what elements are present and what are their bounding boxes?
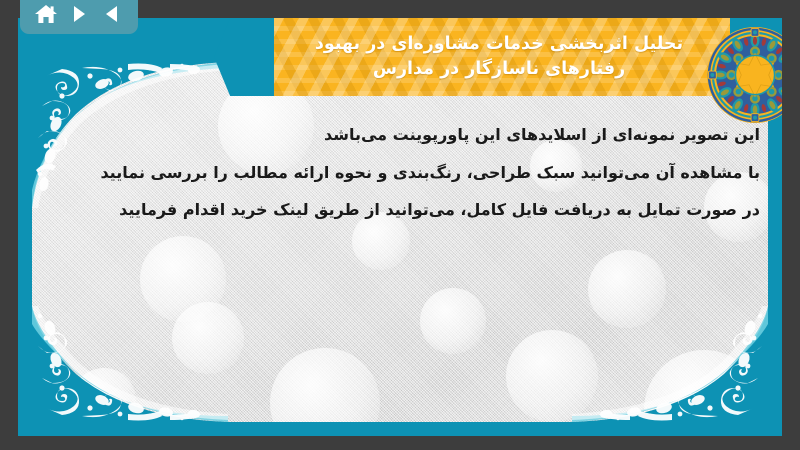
navigation-bar: [20, 0, 138, 34]
slide-title-banner: تحلیل اثربخشی خدمات مشاوره‌ای در بهبود ر…: [274, 18, 730, 96]
triangle-left-icon: [101, 3, 123, 25]
bokeh-circle: [644, 350, 764, 422]
slide-title-line-2: رفتارهای ناسازگار در مدارس: [373, 57, 625, 82]
body-line-1: این تصویر نمونه‌ای از اسلایدهای این پاور…: [40, 116, 760, 154]
bokeh-circle: [420, 288, 486, 354]
slide-body-text: این تصویر نمونه‌ای از اسلایدهای این پاور…: [40, 116, 760, 229]
bokeh-circle: [172, 302, 244, 374]
slide-canvas: تحلیل اثربخشی خدمات مشاوره‌ای در بهبود ر…: [18, 18, 782, 436]
previous-slide-button[interactable]: [98, 1, 126, 27]
slide-title-line-1: تحلیل اثربخشی خدمات مشاوره‌ای در بهبود: [315, 32, 683, 57]
next-slide-button[interactable]: [65, 1, 93, 27]
body-line-2: با مشاهده آن می‌توانید سبک طراحی، رنگ‌بن…: [40, 154, 760, 192]
home-button[interactable]: [32, 1, 60, 27]
slide-viewer: تحلیل اثربخشی خدمات مشاوره‌ای در بهبود ر…: [0, 0, 800, 450]
circular-mandala-ornament: [706, 26, 782, 124]
bokeh-circle: [270, 348, 380, 422]
bokeh-circle: [72, 368, 136, 422]
bokeh-circle: [140, 236, 226, 322]
bokeh-circle: [506, 330, 598, 422]
triangle-right-icon: [68, 3, 90, 25]
bokeh-circle: [588, 250, 666, 328]
home-icon: [34, 3, 58, 25]
body-line-3: در صورت تمایل به دریافت فایل کامل، می‌تو…: [40, 191, 760, 229]
